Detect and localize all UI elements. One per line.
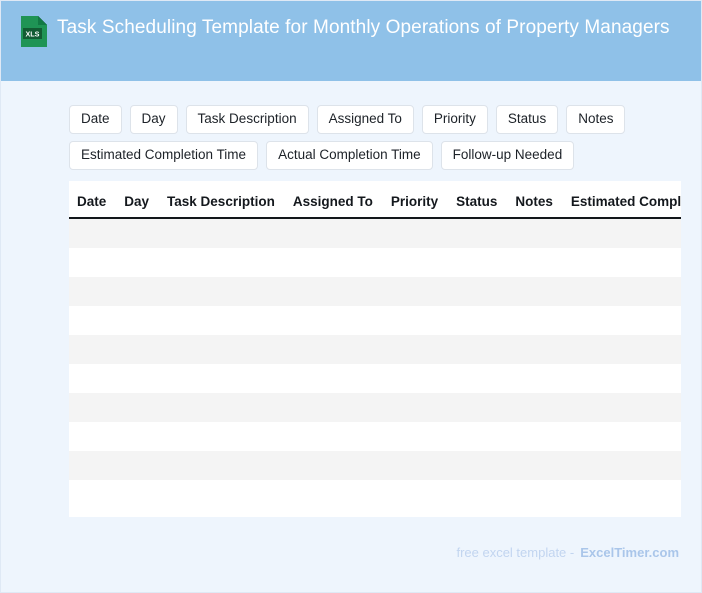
table-cell[interactable]	[158, 277, 284, 306]
table-cell[interactable]	[115, 480, 158, 509]
table-cell[interactable]	[562, 364, 681, 393]
table-cell[interactable]	[562, 248, 681, 277]
table-cell[interactable]	[69, 306, 115, 335]
table-cell[interactable]	[158, 480, 284, 509]
footer-credit: free excel template -ExcelTimer.com	[456, 544, 679, 561]
table-cell[interactable]	[115, 393, 158, 422]
xls-icon-label: XLS	[26, 29, 40, 38]
table-cell[interactable]	[506, 277, 562, 306]
data-table: Date Day Task Description Assigned To Pr…	[69, 181, 681, 509]
table-cell[interactable]	[382, 480, 447, 509]
table-cell[interactable]	[284, 277, 382, 306]
table-row[interactable]	[69, 480, 681, 509]
table-cell[interactable]	[382, 248, 447, 277]
table-cell[interactable]	[284, 451, 382, 480]
table-cell[interactable]	[158, 451, 284, 480]
table-cell[interactable]	[506, 335, 562, 364]
table-cell[interactable]	[69, 218, 115, 248]
table-cell[interactable]	[506, 248, 562, 277]
field-chip-day[interactable]: Day	[130, 105, 178, 134]
table-cell[interactable]	[158, 248, 284, 277]
table-cell[interactable]	[69, 248, 115, 277]
table-cell[interactable]	[562, 306, 681, 335]
table-cell[interactable]	[506, 451, 562, 480]
field-chip-row-2: Estimated Completion Time Actual Complet…	[69, 141, 629, 170]
field-chip-assigned-to[interactable]: Assigned To	[317, 105, 414, 134]
field-chip-estimated-completion-time[interactable]: Estimated Completion Time	[69, 141, 258, 170]
table-cell[interactable]	[447, 277, 506, 306]
table-row[interactable]	[69, 422, 681, 451]
field-chip-row-1: Date Day Task Description Assigned To Pr…	[69, 105, 629, 134]
field-chip-follow-up-needed[interactable]: Follow-up Needed	[441, 141, 575, 170]
table-cell[interactable]	[69, 480, 115, 509]
xls-file-icon: XLS	[20, 15, 48, 48]
table-cell[interactable]	[447, 480, 506, 509]
table-cell[interactable]	[69, 422, 115, 451]
field-chip-task-description[interactable]: Task Description	[186, 105, 309, 134]
table-cell[interactable]	[382, 393, 447, 422]
table-cell[interactable]	[284, 306, 382, 335]
table-cell[interactable]	[115, 451, 158, 480]
table-row[interactable]	[69, 335, 681, 364]
table-cell[interactable]	[506, 422, 562, 451]
table-cell[interactable]	[562, 451, 681, 480]
table-header: Date Day Task Description Assigned To Pr…	[69, 181, 681, 218]
table-cell[interactable]	[115, 277, 158, 306]
table-cell[interactable]	[382, 422, 447, 451]
table-cell[interactable]	[382, 451, 447, 480]
table-cell[interactable]	[562, 335, 681, 364]
table-cell[interactable]	[69, 451, 115, 480]
table-cell[interactable]	[506, 306, 562, 335]
table-cell[interactable]	[506, 218, 562, 248]
column-header-date[interactable]: Date	[69, 181, 115, 218]
table-cell[interactable]	[284, 218, 382, 248]
table-cell[interactable]	[382, 218, 447, 248]
field-chip-priority[interactable]: Priority	[422, 105, 488, 134]
table-cell[interactable]	[158, 218, 284, 248]
table-header-row: Date Day Task Description Assigned To Pr…	[69, 181, 681, 218]
table-cell[interactable]	[284, 393, 382, 422]
table-row[interactable]	[69, 393, 681, 422]
footer-prefix-text: free excel template -	[456, 545, 574, 560]
table-cell[interactable]	[382, 364, 447, 393]
table-row[interactable]	[69, 451, 681, 480]
table-cell[interactable]	[447, 306, 506, 335]
table-row[interactable]	[69, 364, 681, 393]
table-cell[interactable]	[284, 248, 382, 277]
table-cell[interactable]	[115, 248, 158, 277]
table-cell[interactable]	[158, 335, 284, 364]
table-cell[interactable]	[115, 218, 158, 248]
table-cell[interactable]	[447, 451, 506, 480]
column-header-day[interactable]: Day	[115, 181, 158, 218]
column-header-task-description[interactable]: Task Description	[158, 181, 284, 218]
table-cell[interactable]	[115, 364, 158, 393]
table-cell[interactable]	[382, 335, 447, 364]
table-cell[interactable]	[447, 422, 506, 451]
column-header-priority[interactable]: Priority	[382, 181, 447, 218]
table-cell[interactable]	[115, 306, 158, 335]
table-row[interactable]	[69, 277, 681, 306]
table-cell[interactable]	[562, 277, 681, 306]
table-cell[interactable]	[447, 393, 506, 422]
field-chip-list: Date Day Task Description Assigned To Pr…	[69, 105, 629, 177]
column-header-estimated-completion-time[interactable]: Estimated Completion Time	[562, 181, 681, 218]
field-chip-notes[interactable]: Notes	[566, 105, 625, 134]
table-cell[interactable]	[158, 393, 284, 422]
table-cell[interactable]	[447, 364, 506, 393]
column-header-status[interactable]: Status	[447, 181, 506, 218]
template-page: XLS Task Scheduling Template for Monthly…	[0, 0, 702, 593]
table-cell[interactable]	[506, 480, 562, 509]
field-chip-status[interactable]: Status	[496, 105, 558, 134]
table-cell[interactable]	[69, 277, 115, 306]
table-cell[interactable]	[69, 335, 115, 364]
table-cell[interactable]	[562, 393, 681, 422]
column-header-notes[interactable]: Notes	[506, 181, 562, 218]
column-header-assigned-to[interactable]: Assigned To	[284, 181, 382, 218]
table-cell[interactable]	[158, 306, 284, 335]
table-row[interactable]	[69, 218, 681, 248]
data-table-container: Date Day Task Description Assigned To Pr…	[69, 181, 681, 517]
table-cell[interactable]	[284, 364, 382, 393]
table-row[interactable]	[69, 306, 681, 335]
table-cell[interactable]	[284, 422, 382, 451]
table-cell[interactable]	[158, 364, 284, 393]
table-cell[interactable]	[562, 422, 681, 451]
table-body	[69, 218, 681, 509]
page-header: XLS Task Scheduling Template for Monthly…	[1, 1, 702, 81]
table-cell[interactable]	[69, 364, 115, 393]
table-cell[interactable]	[562, 480, 681, 509]
table-cell[interactable]	[382, 277, 447, 306]
table-cell[interactable]	[115, 335, 158, 364]
table-cell[interactable]	[382, 306, 447, 335]
page-title: Task Scheduling Template for Monthly Ope…	[57, 14, 681, 41]
table-cell[interactable]	[284, 335, 382, 364]
table-row[interactable]	[69, 248, 681, 277]
table-cell[interactable]	[158, 422, 284, 451]
footer-brand-link[interactable]: ExcelTimer.com	[580, 545, 679, 560]
field-chip-actual-completion-time[interactable]: Actual Completion Time	[266, 141, 433, 170]
table-cell[interactable]	[69, 393, 115, 422]
table-cell[interactable]	[506, 364, 562, 393]
table-cell[interactable]	[447, 248, 506, 277]
table-cell[interactable]	[506, 393, 562, 422]
table-cell[interactable]	[115, 422, 158, 451]
table-cell[interactable]	[284, 480, 382, 509]
table-cell[interactable]	[447, 218, 506, 248]
table-cell[interactable]	[447, 335, 506, 364]
table-cell[interactable]	[562, 218, 681, 248]
field-chip-date[interactable]: Date	[69, 105, 122, 134]
